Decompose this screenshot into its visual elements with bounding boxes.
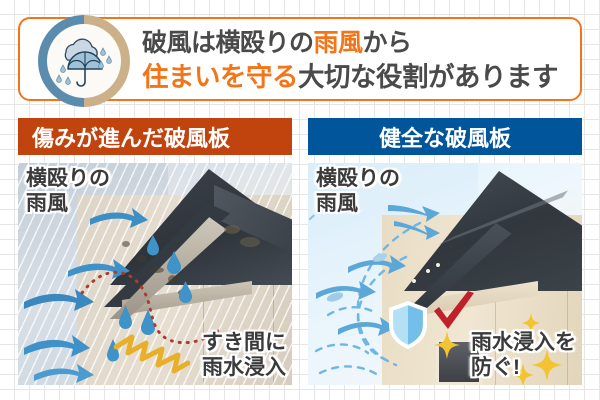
caption-wind-rain-left: 横殴りの 雨風 xyxy=(26,167,110,217)
panel-damaged-fascia: 傷みが進んだ破風板 xyxy=(18,118,292,385)
rain-umbrella-icon xyxy=(38,15,130,107)
umbrella-cloud-glyph xyxy=(54,32,114,90)
blue-wind-arrow xyxy=(314,275,378,303)
infographic-page: 破風は横殴りの雨風から 住まいを守る大切な役割があります 傷みが進んだ破風板 xyxy=(0,0,600,400)
header-text-block: 破風は横殴りの雨風から 住まいを守る大切な役割があります xyxy=(142,24,578,98)
caption-wind-rain-right: 横殴りの 雨風 xyxy=(316,167,400,217)
header-line2-plain: 大切な役割があります xyxy=(298,62,558,92)
header-line2-accent: 住まいを守る xyxy=(142,62,298,92)
panel-damaged-title: 傷みが進んだ破風板 xyxy=(18,118,292,155)
header-line1-plain-a: 破風は横殴りの xyxy=(142,29,314,57)
yellow-zigzag xyxy=(112,331,190,375)
panel-healthy-fascia: 健全な破風板 xyxy=(308,118,582,385)
header-line-1: 破風は横殴りの雨風から xyxy=(142,27,578,60)
blue-wind-arrow xyxy=(392,215,442,241)
damage-patch xyxy=(122,241,130,247)
damage-patch xyxy=(224,225,240,234)
blue-wind-arrow xyxy=(32,359,96,385)
gold-sparkle xyxy=(522,313,540,333)
panel-healthy-title: 健全な破風板 xyxy=(308,118,582,155)
water-drop xyxy=(326,289,344,307)
caption-prevents-intrusion: 雨水浸入を 防ぐ! xyxy=(471,331,576,381)
caption-water-intrusion: すき間に 雨水浸入 xyxy=(202,331,286,381)
header-banner: 破風は横殴りの雨風から 住まいを守る大切な役割があります xyxy=(18,17,582,101)
header-line1-plain-b: から xyxy=(363,29,412,57)
damaged-fascia-photo: 横殴りの 雨風 すき間に 雨水浸入 xyxy=(18,163,292,385)
shield-icon xyxy=(386,299,430,351)
damage-patch xyxy=(240,237,260,247)
header-line-2: 住まいを守る大切な役割があります xyxy=(142,60,578,95)
vent-dot xyxy=(436,263,440,267)
water-drop xyxy=(146,235,160,262)
icon-inner-disc xyxy=(47,24,121,98)
header-line1-accent: 雨風 xyxy=(314,29,363,57)
water-drop xyxy=(372,249,388,267)
healthy-fascia-photo: 横殴りの 雨風 雨水浸入を 防ぐ! xyxy=(308,163,582,385)
